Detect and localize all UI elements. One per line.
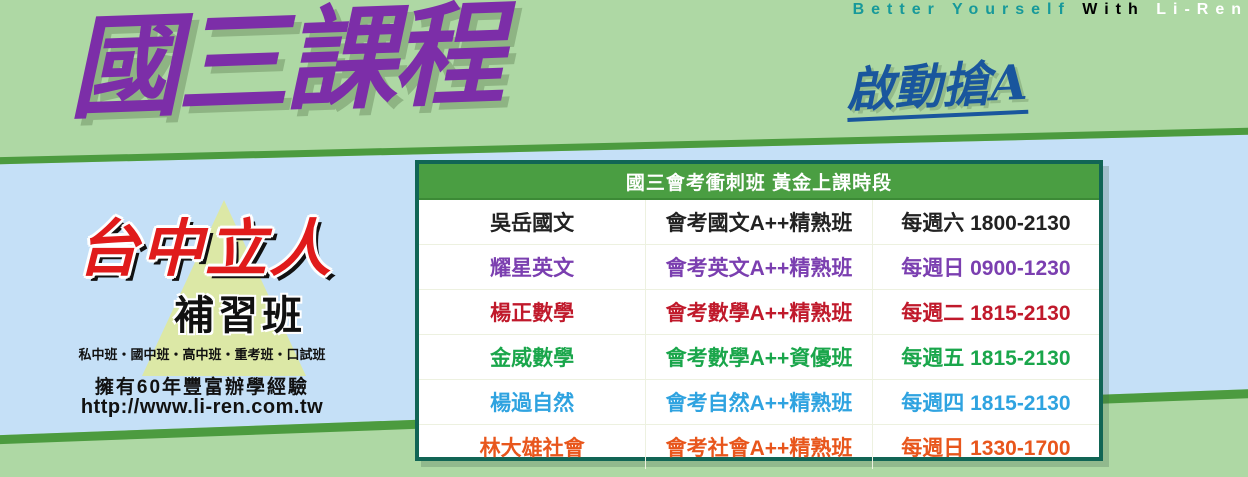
schedule-cell-teacher: 金威數學	[419, 335, 646, 380]
schedule-cell-teacher: 楊正數學	[419, 290, 646, 335]
schedule-cell-teacher: 林大雄社會	[419, 425, 646, 470]
schedule-cell-course: 會考自然A++精熟班	[646, 380, 873, 425]
schedule-cell-time: 每週五 1815-2130	[872, 335, 1099, 380]
poster-canvas: Better Yourself With Li-Ren 國三課程 啟動搶A 台中…	[0, 0, 1248, 477]
table-row: 耀星英文會考英文A++精熟班每週日 0900-1230	[419, 245, 1099, 290]
schedule-cell-time: 每週日 1330-1700	[872, 425, 1099, 470]
table-row: 林大雄社會會考社會A++精熟班每週日 1330-1700	[419, 425, 1099, 470]
schedule-cell-course: 會考數學A++資優班	[646, 335, 873, 380]
schedule-cell-teacher: 楊過自然	[419, 380, 646, 425]
schedule-cell-course: 會考國文A++精熟班	[646, 199, 873, 245]
table-row: 楊正數學會考數學A++精熟班每週二 1815-2130	[419, 290, 1099, 335]
schedule-cell-course: 會考社會A++精熟班	[646, 425, 873, 470]
schedule-cell-course: 會考數學A++精熟班	[646, 290, 873, 335]
table-row: 楊過自然會考自然A++精熟班每週四 1815-2130	[419, 380, 1099, 425]
schedule-table-body: 吳岳國文會考國文A++精熟班每週六 1800-2130耀星英文會考英文A++精熟…	[419, 199, 1099, 469]
schedule-cell-course: 會考英文A++精熟班	[646, 245, 873, 290]
schedule-cell-time: 每週日 0900-1230	[872, 245, 1099, 290]
schedule-table-head: 國三會考衝刺班 黃金上課時段	[419, 164, 1099, 199]
tagline-word-better: Better	[853, 1, 941, 18]
schedule-header-title: 國三會考衝刺班 黃金上課時段	[419, 164, 1099, 199]
schedule-cell-teacher: 耀星英文	[419, 245, 646, 290]
tagline-word-liren: Li-Ren	[1156, 1, 1248, 18]
logo-brand-name: 台中立人	[30, 218, 380, 280]
english-tagline: Better Yourself With Li-Ren	[0, 1, 1248, 19]
tagline-word-yourself: Yourself	[952, 1, 1071, 18]
schedule-table-grid: 國三會考衝刺班 黃金上課時段 吳岳國文會考國文A++精熟班每週六 1800-21…	[419, 164, 1099, 469]
subtitle: 啟動搶A	[845, 58, 1029, 123]
table-row: 金威數學會考數學A++資優班每週五 1815-2130	[419, 335, 1099, 380]
logo-brand-subtitle: 補習班	[100, 296, 380, 336]
tagline-word-with: With	[1082, 1, 1145, 18]
logo-course-list: 私中班・國中班・高中班・重考班・口試班	[22, 344, 382, 363]
logo-website-url[interactable]: http://www.li-ren.com.tw	[22, 396, 382, 419]
table-row: 吳岳國文會考國文A++精熟班每週六 1800-2130	[419, 199, 1099, 245]
schedule-header-row: 國三會考衝刺班 黃金上課時段	[419, 164, 1099, 199]
schedule-cell-time: 每週二 1815-2130	[872, 290, 1099, 335]
schedule-cell-time: 每週六 1800-2130	[872, 199, 1099, 245]
subtitle-text: 啟動搶A	[845, 58, 1029, 123]
schedule-cell-teacher: 吳岳國文	[419, 199, 646, 245]
schedule-table: 國三會考衝刺班 黃金上課時段 吳岳國文會考國文A++精熟班每週六 1800-21…	[415, 160, 1103, 461]
logo-experience: 擁有60年豐富辦學經驗	[22, 372, 382, 399]
school-logo: 台中立人 補習班 私中班・國中班・高中班・重考班・口試班 擁有60年豐富辦學經驗…	[22, 196, 382, 426]
schedule-cell-time: 每週四 1815-2130	[872, 380, 1099, 425]
